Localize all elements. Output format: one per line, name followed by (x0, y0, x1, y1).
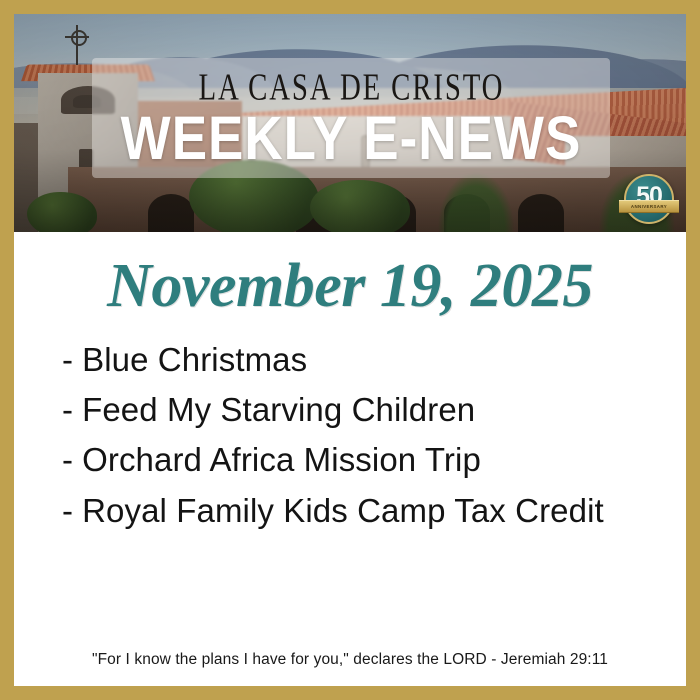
bullet-dash: - (62, 385, 73, 435)
headline-item[interactable]: - Blue Christmas (62, 335, 686, 385)
headline-item[interactable]: - Royal Family Kids Camp Tax Credit (62, 486, 686, 536)
headline-item[interactable]: - Orchard Africa Mission Trip (62, 435, 686, 485)
headline-label: Orchard Africa Mission Trip (82, 435, 481, 485)
headline-item[interactable]: - Feed My Starving Children (62, 385, 686, 435)
badge-ribbon: ANNIVERSARY (619, 200, 679, 213)
headline-label: Royal Family Kids Camp Tax Credit (82, 486, 604, 536)
arcade-arch (518, 194, 564, 232)
headline-list: - Blue Christmas - Feed My Starving Chil… (14, 335, 686, 536)
brand-title: La Casa de Cristo (198, 68, 504, 106)
headline-label: Feed My Starving Children (82, 385, 475, 435)
cross-icon (76, 25, 78, 65)
bullet-dash: - (62, 435, 73, 485)
scripture-verse: "For I know the plans I have for you," d… (14, 650, 686, 686)
shrub (310, 180, 410, 232)
bullet-dash: - (62, 335, 73, 385)
anniversary-badge-icon: 50 ANNIVERSARY (622, 172, 676, 226)
newsletter-card: La Casa de Cristo Weekly E-News 50 ANNIV… (0, 0, 700, 700)
content-panel: November 19, 2025 - Blue Christmas - Fee… (14, 232, 686, 686)
bullet-dash: - (62, 486, 73, 536)
badge-ribbon-label: ANNIVERSARY (631, 204, 667, 209)
issue-date-heading: November 19, 2025 (14, 254, 686, 319)
title-overlay-panel: La Casa de Cristo Weekly E-News (92, 58, 610, 178)
headline-label: Blue Christmas (82, 335, 307, 385)
hero-photo: La Casa de Cristo Weekly E-News 50 ANNIV… (14, 14, 686, 232)
publication-title: Weekly E-News (121, 108, 582, 169)
arcade-arch (148, 194, 194, 232)
